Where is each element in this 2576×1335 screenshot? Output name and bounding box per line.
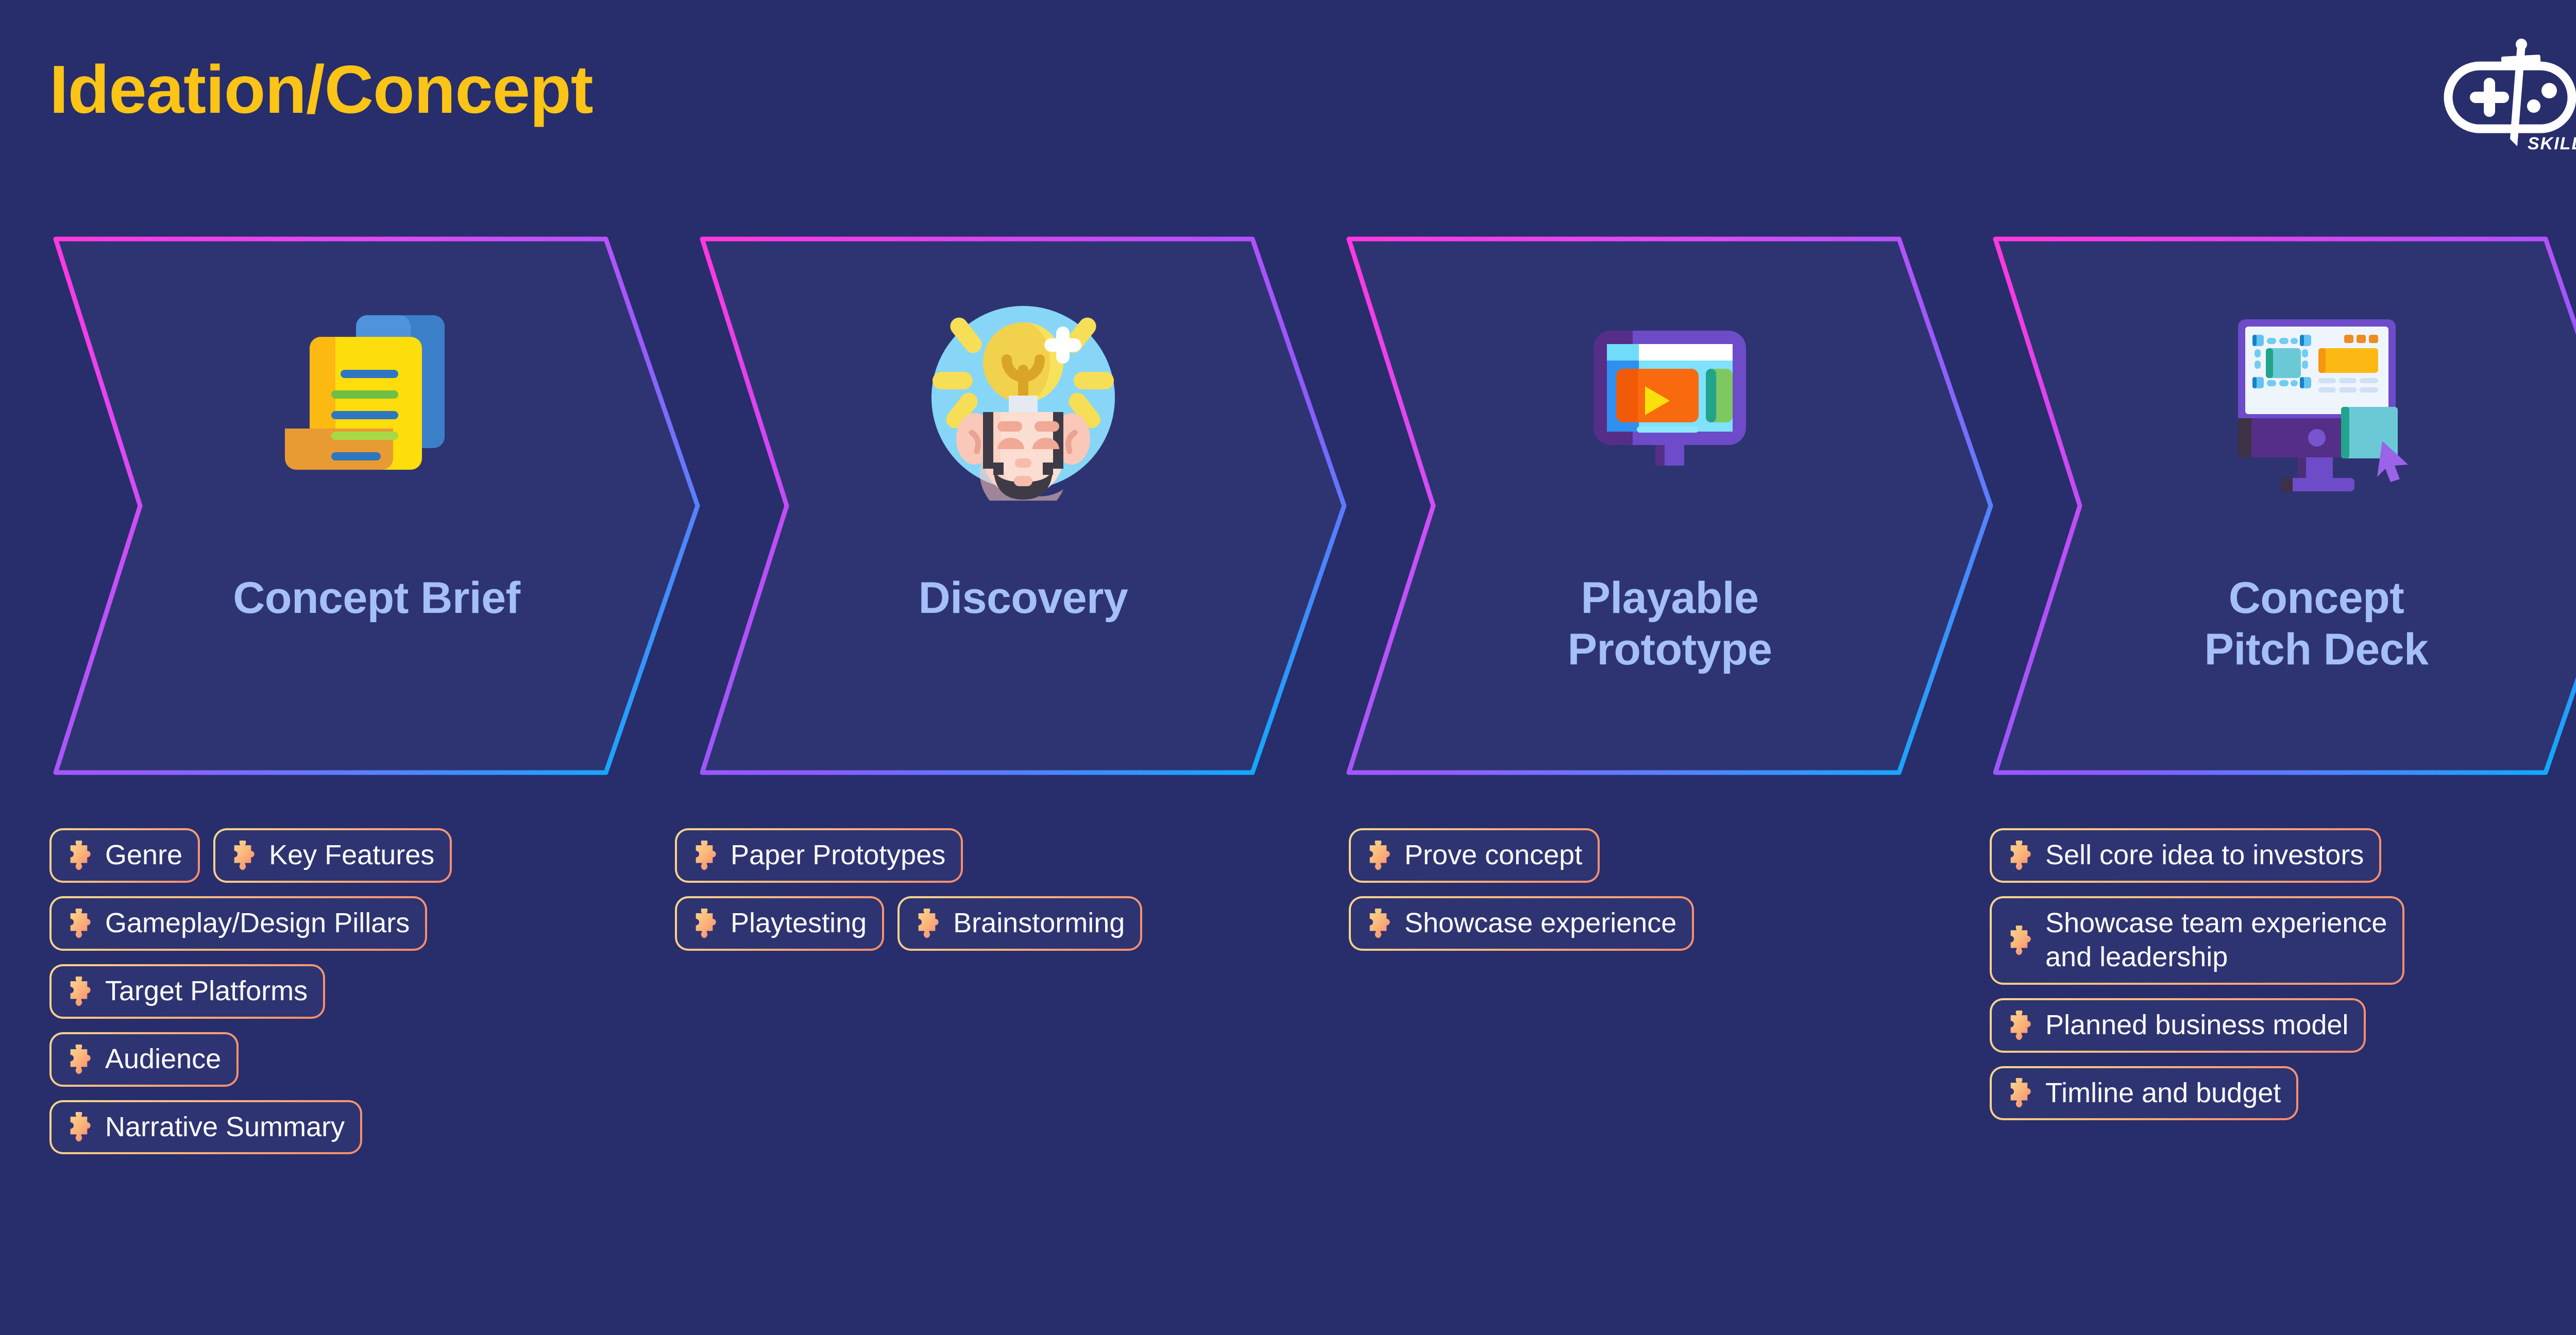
tag-label: Key Features [269,838,434,872]
tag-pill[interactable]: Narrative Summary [49,1100,362,1155]
tag-pill[interactable]: Key Features [213,828,452,883]
stage-title: Discovery [732,573,1314,624]
gd-skills-logo: SKILLS [2440,36,2576,155]
tag-label: Playtesting [731,906,867,940]
tag-label: Target Platforms [105,974,308,1008]
tag-label: Genre [105,838,182,872]
tag-pill[interactable]: Planned business model [1990,998,2366,1053]
tag-row: Audience [49,1032,452,1087]
tag-column-concept-pitch-deck: Sell core idea to investors Showcase tea… [1990,828,2404,1134]
puzzle-piece-icon [1363,841,1393,870]
puzzle-piece-icon [912,909,942,938]
tag-label: Brainstorming [953,906,1125,940]
stage-title: Concept Brief [86,573,668,624]
tag-row: Showcase team experience and leadership [1990,896,2404,985]
page-title: Ideation/Concept [49,56,593,124]
tag-label: Showcase experience [1404,906,1676,940]
puzzle-piece-icon [2004,1011,2034,1040]
stage-card-discovery[interactable]: Discovery [696,233,1350,779]
tag-row: Gameplay/Design Pillars [49,896,452,951]
tag-column-playable-prototype: Prove concept Showcase experience [1349,828,1694,964]
tag-row: Sell core idea to investors [1990,828,2404,883]
tag-column-discovery: Paper Prototypes Playtesting Brainstormi… [675,828,1142,964]
puzzle-piece-icon [2004,926,2034,955]
tag-label: Showcase team experience and leadership [2045,906,2387,974]
puzzle-piece-icon [1363,909,1393,938]
puzzle-piece-icon [2004,841,2034,870]
puzzle-piece-icon [689,909,719,938]
tag-pill[interactable]: Target Platforms [49,964,325,1019]
tag-row: Genre Key Features [49,828,452,883]
tag-columns: Genre Key Features Gameplay/Design Pilla… [0,828,2576,1292]
tag-row: Showcase experience [1349,896,1694,951]
tag-pill[interactable]: Genre [49,828,200,883]
tag-label: Paper Prototypes [731,838,945,872]
puzzle-piece-icon [64,977,94,1006]
tag-label: Gameplay/Design Pillars [105,906,410,940]
stage-title: Playable Prototype [1379,573,1961,676]
tag-label: Timline and budget [2045,1076,2281,1110]
monitor-play-icon [1343,289,1997,506]
tag-label: Planned business model [2045,1008,2348,1042]
document-stack-icon [49,289,704,506]
tag-row: Paper Prototypes [675,828,1142,883]
puzzle-piece-icon [689,841,719,870]
stage-card-concept-brief[interactable]: Concept Brief [49,233,704,779]
tag-pill[interactable]: Playtesting [675,896,884,951]
tag-pill[interactable]: Sell core idea to investors [1990,828,2381,883]
tag-label: Narrative Summary [105,1110,345,1144]
tag-row: Planned business model [1990,998,2404,1053]
tag-row: Prove concept [1349,828,1694,883]
puzzle-piece-icon [64,909,94,938]
tag-pill[interactable]: Brainstorming [897,896,1142,951]
puzzle-piece-icon [64,1045,94,1074]
tag-pill[interactable]: Prove concept [1349,828,1600,883]
monitor-design-cursor-icon [1989,289,2576,506]
stage-card-concept-pitch-deck[interactable]: Concept Pitch Deck [1989,233,2576,779]
logo-wordmark: SKILLS [2528,134,2576,153]
idea-head-lightbulb-icon [696,289,1350,506]
tag-pill[interactable]: Audience [49,1032,239,1087]
tag-pill[interactable]: Showcase team experience and leadership [1990,896,2404,985]
tag-pill[interactable]: Paper Prototypes [675,828,963,883]
tag-pill[interactable]: Gameplay/Design Pillars [49,896,427,951]
tag-row: Target Platforms [49,964,452,1019]
tag-column-concept-brief: Genre Key Features Gameplay/Design Pilla… [49,828,452,1168]
puzzle-piece-icon [228,841,258,870]
tag-row: Narrative Summary [49,1100,452,1155]
tag-label: Sell core idea to investors [2045,838,2364,872]
tag-row: Playtesting Brainstorming [675,896,1142,951]
puzzle-piece-icon [2004,1078,2034,1108]
tag-pill[interactable]: Showcase experience [1349,896,1694,951]
puzzle-piece-icon [64,841,94,870]
stage-card-playable-prototype[interactable]: Playable Prototype [1343,233,1997,779]
stage-chevron-row: Concept Brief [0,233,2576,789]
tag-pill[interactable]: Timline and budget [1990,1066,2298,1121]
tag-label: Audience [105,1042,221,1076]
tag-row: Timline and budget [1990,1066,2404,1121]
puzzle-piece-icon [64,1112,94,1142]
tag-label: Prove concept [1404,838,1582,872]
stage-title: Concept Pitch Deck [2025,573,2576,676]
